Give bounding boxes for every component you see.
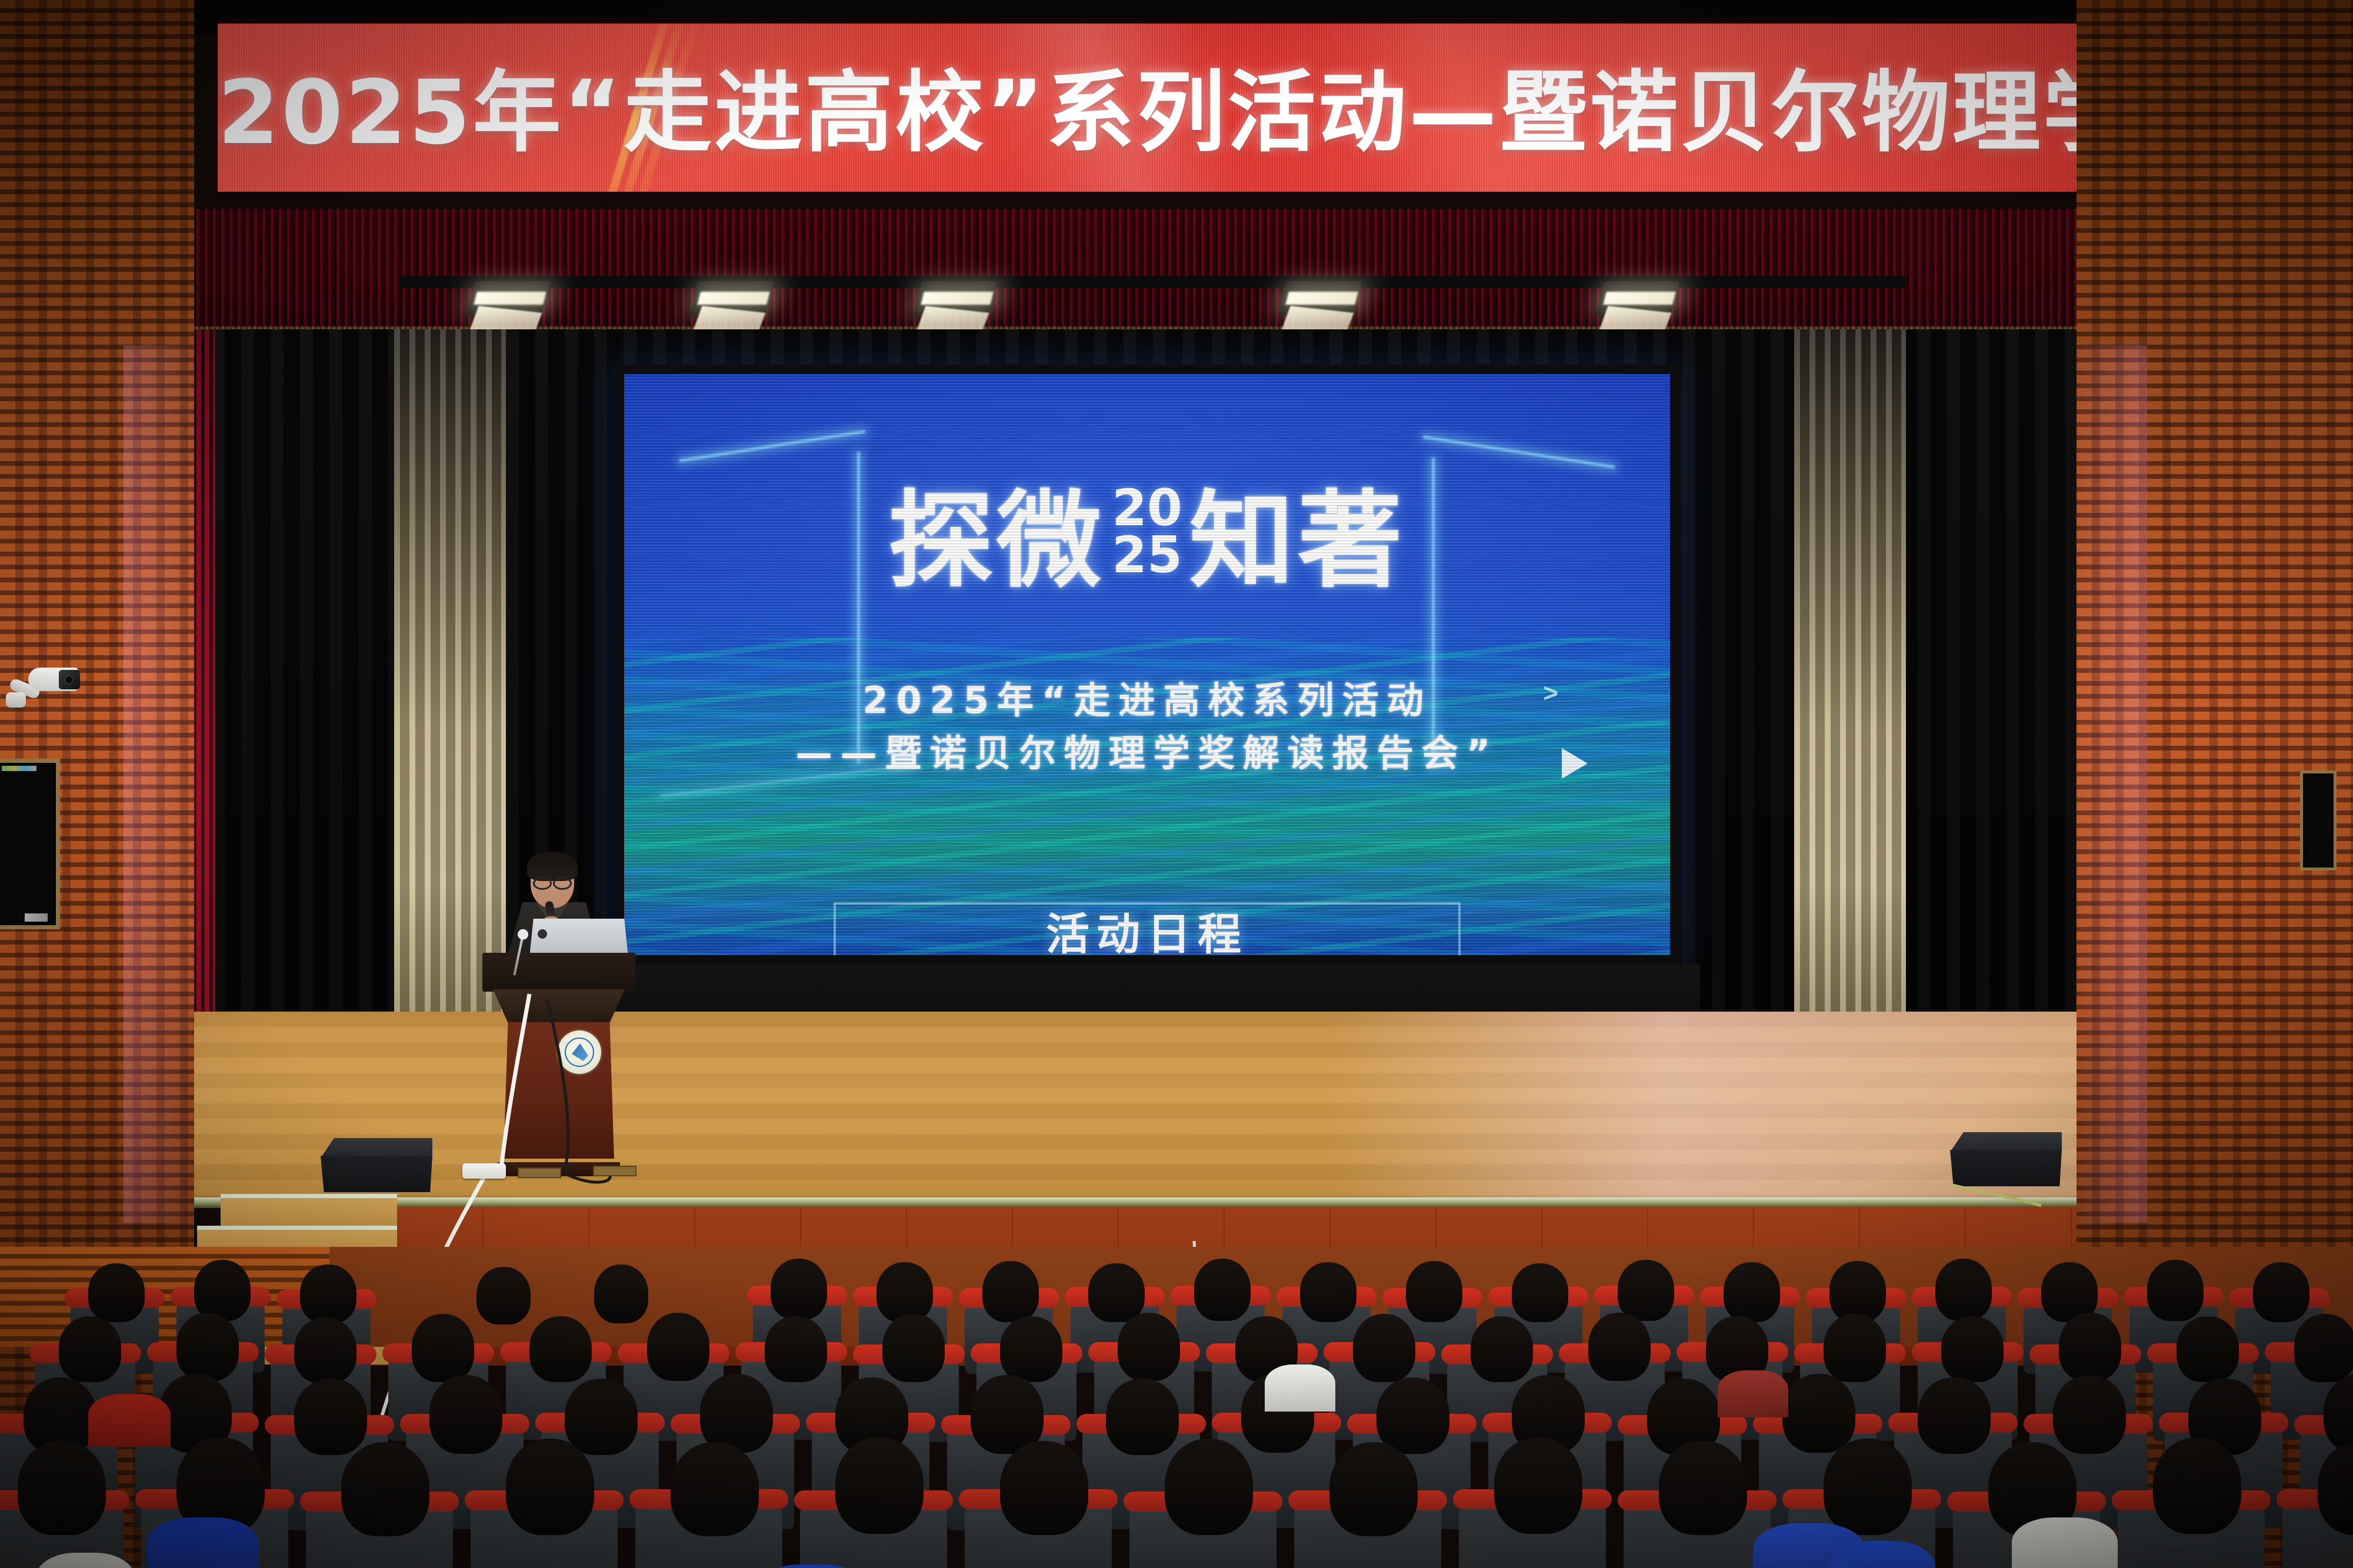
audience-head xyxy=(1918,1377,1991,1454)
audience-head xyxy=(876,1262,933,1322)
audience-head xyxy=(1724,1262,1780,1322)
audience-head xyxy=(1194,1259,1251,1321)
audience-head xyxy=(294,1317,356,1383)
audience-head xyxy=(1406,1261,1462,1322)
audience-jacket xyxy=(1265,1365,1335,1412)
audience-seating-area xyxy=(0,1247,2353,1568)
audience-head xyxy=(18,1441,106,1535)
wall-monitor-left[interactable] xyxy=(0,759,60,929)
audience-head xyxy=(2059,1313,2121,1381)
audience-head xyxy=(1935,1259,1992,1321)
audience-jacket xyxy=(88,1394,171,1447)
audience-head xyxy=(1782,1374,1855,1453)
audience-head xyxy=(429,1375,502,1454)
audience-head xyxy=(294,1379,367,1455)
audience-head xyxy=(1377,1377,1449,1454)
audience-jacket xyxy=(2012,1517,2118,1568)
audience-head xyxy=(882,1314,945,1382)
audience-head xyxy=(1659,1441,1747,1535)
audience-head xyxy=(771,1259,827,1320)
audience-head xyxy=(506,1439,594,1535)
audience-head xyxy=(1471,1316,1533,1382)
audience-head xyxy=(176,1313,239,1381)
audience-head xyxy=(2053,1375,2126,1454)
wall-light-wash xyxy=(2077,345,2147,1223)
audience-head xyxy=(2153,1437,2241,1534)
audience-head xyxy=(1000,1441,1088,1535)
audience-head xyxy=(300,1265,356,1323)
security-camera-icon xyxy=(6,662,82,726)
camera-wall-mount xyxy=(6,692,26,708)
monitor-control-strip xyxy=(25,913,48,922)
audience-head xyxy=(1494,1437,1582,1534)
audience-head xyxy=(2177,1316,2239,1382)
audience-head xyxy=(982,1261,1039,1322)
audience-head xyxy=(1165,1439,1253,1535)
audience-head xyxy=(1618,1260,1674,1321)
audience-head xyxy=(1353,1314,1415,1382)
audience-head xyxy=(59,1316,121,1382)
audience-head xyxy=(1824,1314,1886,1382)
audience-head xyxy=(765,1316,827,1382)
audience-head xyxy=(2253,1262,2309,1322)
wall-monitor-right[interactable] xyxy=(2300,770,2337,870)
audience-head xyxy=(1824,1439,1912,1535)
audience-head xyxy=(476,1267,531,1325)
audience-head xyxy=(1000,1316,1062,1382)
audience-head xyxy=(2294,1314,2353,1382)
audience-head xyxy=(88,1263,145,1322)
audience-head xyxy=(671,1442,759,1536)
audience-jacket xyxy=(147,1517,259,1568)
audience-head xyxy=(1588,1313,1651,1381)
audience-head xyxy=(194,1260,251,1321)
audience-head xyxy=(1829,1261,1886,1322)
audience-head xyxy=(341,1442,429,1536)
audience-head xyxy=(647,1313,709,1381)
audience-head xyxy=(565,1379,638,1455)
wall-light-wash xyxy=(124,345,194,1223)
floor-power-strip[interactable] xyxy=(462,1163,506,1179)
audience-head xyxy=(700,1374,773,1453)
auditorium-scene: 2025年“走进高校”系列活动—暨诺贝尔物理学奖解读报告会 xyxy=(0,0,2353,1568)
camera-lens-icon xyxy=(59,670,80,689)
audience-jacket xyxy=(1718,1370,1788,1417)
audience-head xyxy=(1118,1313,1180,1381)
audience-head xyxy=(835,1437,924,1534)
audience-head xyxy=(1088,1263,1145,1322)
audience-head xyxy=(1106,1379,1179,1455)
audience-head xyxy=(2147,1260,2204,1321)
audience-head xyxy=(1941,1316,2004,1382)
audience-head xyxy=(1512,1263,1568,1322)
stage-floor-box xyxy=(593,1166,636,1176)
audience-head xyxy=(594,1265,648,1323)
audience-head xyxy=(1300,1262,1357,1322)
monitor-status-strip xyxy=(2,766,36,771)
audience-head xyxy=(529,1316,592,1382)
stage-floor-box xyxy=(518,1167,561,1178)
audience-head xyxy=(1329,1442,1418,1536)
audience-head xyxy=(412,1314,474,1382)
